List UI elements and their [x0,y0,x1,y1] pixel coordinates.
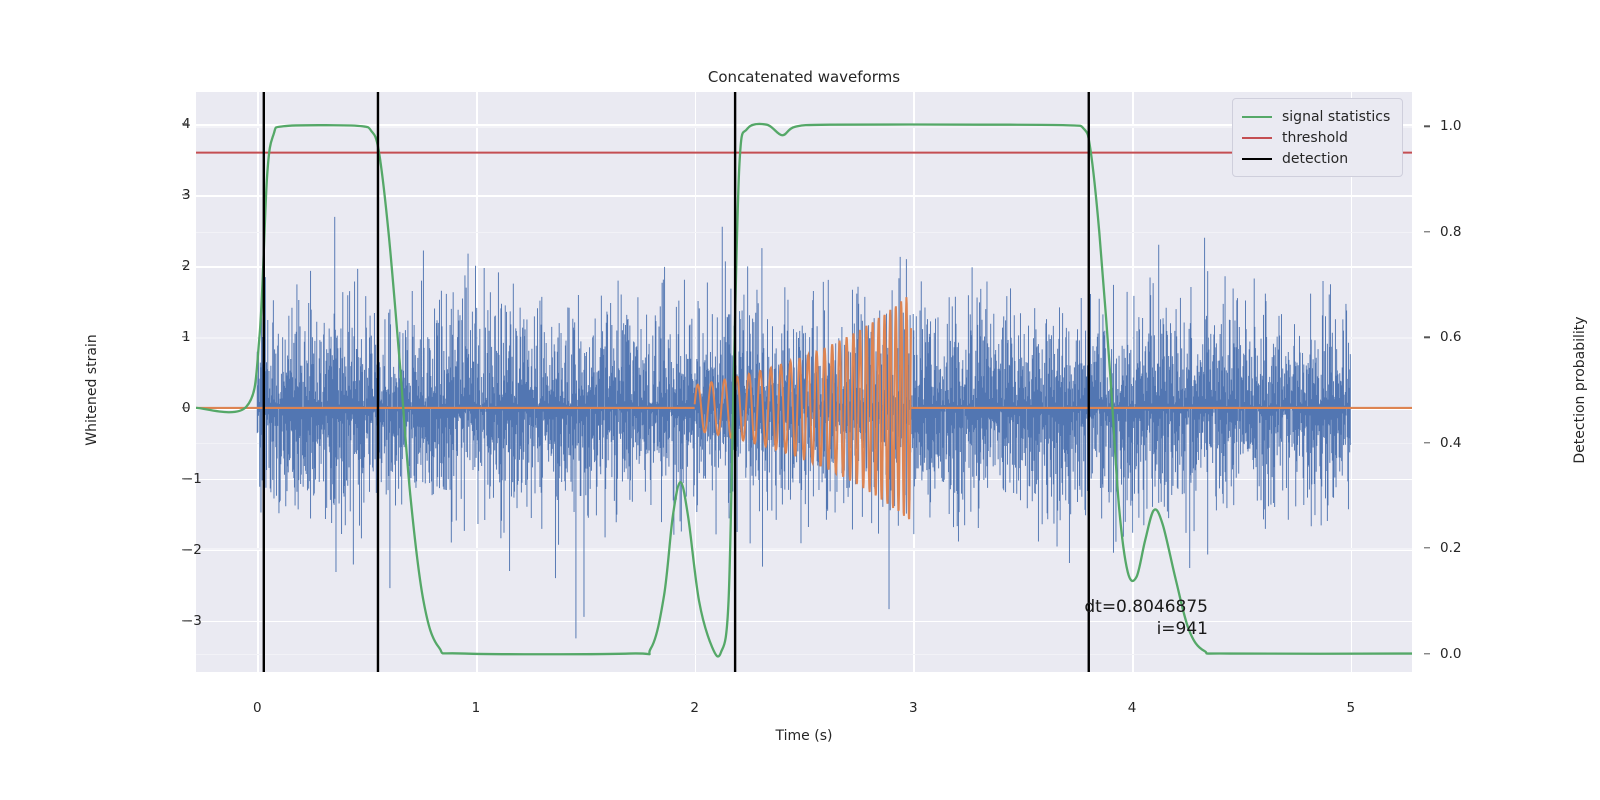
legend-swatch [1242,158,1272,160]
figure: Concatenated waveforms −3−2−1012340.00.2… [0,0,1600,800]
tick-mark [182,336,188,337]
legend: signal statisticsthresholddetection [1232,98,1403,177]
data-layer [196,92,1412,672]
x-axis-label: Time (s) [196,728,1412,744]
chart-title: Concatenated waveforms [196,68,1412,86]
tick-mark [182,407,188,408]
legend-swatch [1242,116,1272,118]
tick-mark [182,478,188,479]
legend-swatch [1242,137,1272,139]
tick-mark [182,194,188,195]
annotation-dt: dt=0.8046875 [1018,596,1208,618]
legend-item[interactable]: threshold [1242,127,1390,148]
annotation-box: dt=0.8046875 i=941 [1018,596,1208,641]
legend-label: detection [1282,151,1348,167]
annotation-index: i=941 [1018,618,1208,640]
x-tick: 1 [472,700,481,716]
x-tick: 0 [253,700,262,716]
legend-item[interactable]: detection [1242,148,1390,169]
noise-trace [257,217,1350,639]
tick-mark [1424,231,1430,232]
tick-mark [1424,126,1430,127]
legend-label: threshold [1282,130,1348,146]
tick-mark [182,620,188,621]
tick-mark [182,549,188,550]
y-axis-label-left: Whitened strain [84,290,100,490]
legend-item[interactable]: signal statistics [1242,106,1390,127]
x-tick: 5 [1346,700,1355,716]
tick-mark [182,265,188,266]
tick-mark [1424,653,1430,654]
x-tick: 2 [690,700,699,716]
tick-mark [1424,547,1430,548]
plot-area [196,92,1412,672]
legend-label: signal statistics [1282,109,1390,125]
x-tick: 4 [1128,700,1137,716]
x-tick: 3 [909,700,918,716]
tick-mark [1424,336,1430,337]
tick-mark [182,123,188,124]
tick-mark [1424,442,1430,443]
y-axis-label-right: Detection probability [1572,280,1588,500]
